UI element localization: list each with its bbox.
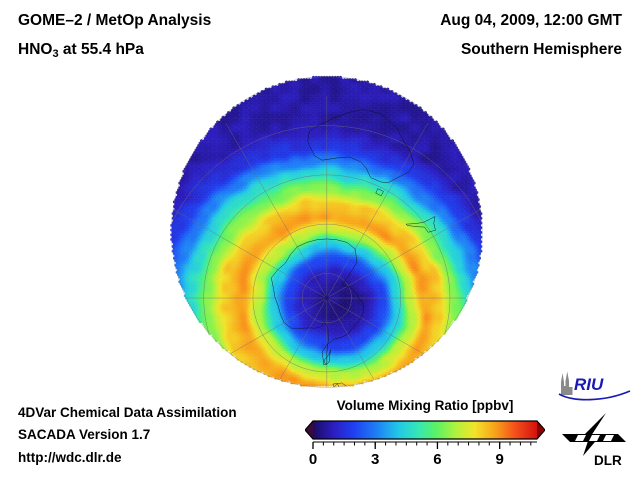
page-title: GOME–2 / MetOp Analysis: [18, 12, 211, 30]
colorbar-tick-3: 3: [371, 451, 379, 468]
dlr-mark-icon: [562, 413, 626, 456]
riu-logo: RIU: [556, 369, 632, 401]
riu-logo-text: RIU: [574, 375, 604, 394]
footer-line-version: SACADA Version 1.7: [18, 427, 150, 442]
species-level-label: HNO3 at 55.4 hPa: [18, 41, 144, 60]
polar-map: [165, 68, 490, 398]
hemisphere-label: Southern Hemisphere: [461, 41, 622, 59]
species-formula-main: HNO: [18, 41, 52, 58]
footer-line-url: http://wdc.dlr.de: [18, 450, 122, 465]
pressure-level-text: at 55.4 hPa: [59, 41, 144, 58]
colorbar-tick-labels: 0369: [305, 451, 545, 471]
colorbar-tick-9: 9: [495, 451, 503, 468]
colorbar-gradient: [305, 418, 545, 442]
footer-line-method: 4DVar Chemical Data Assimilation: [18, 405, 237, 420]
colorbar-tick-0: 0: [309, 451, 317, 468]
colorbar-tick-6: 6: [433, 451, 441, 468]
riu-cathedral-icon: [561, 372, 573, 396]
timestamp-label: Aug 04, 2009, 12:00 GMT: [440, 12, 622, 30]
colorbar-title: Volume Mixing Ratio [ppbv]: [305, 398, 545, 413]
dlr-logo-text: DLR: [594, 453, 622, 468]
colorbar: Volume Mixing Ratio [ppbv] 0369: [305, 398, 545, 473]
figure-root: GOME–2 / MetOp Analysis HNO3 at 55.4 hPa…: [0, 0, 640, 480]
dlr-logo: DLR: [558, 410, 630, 468]
